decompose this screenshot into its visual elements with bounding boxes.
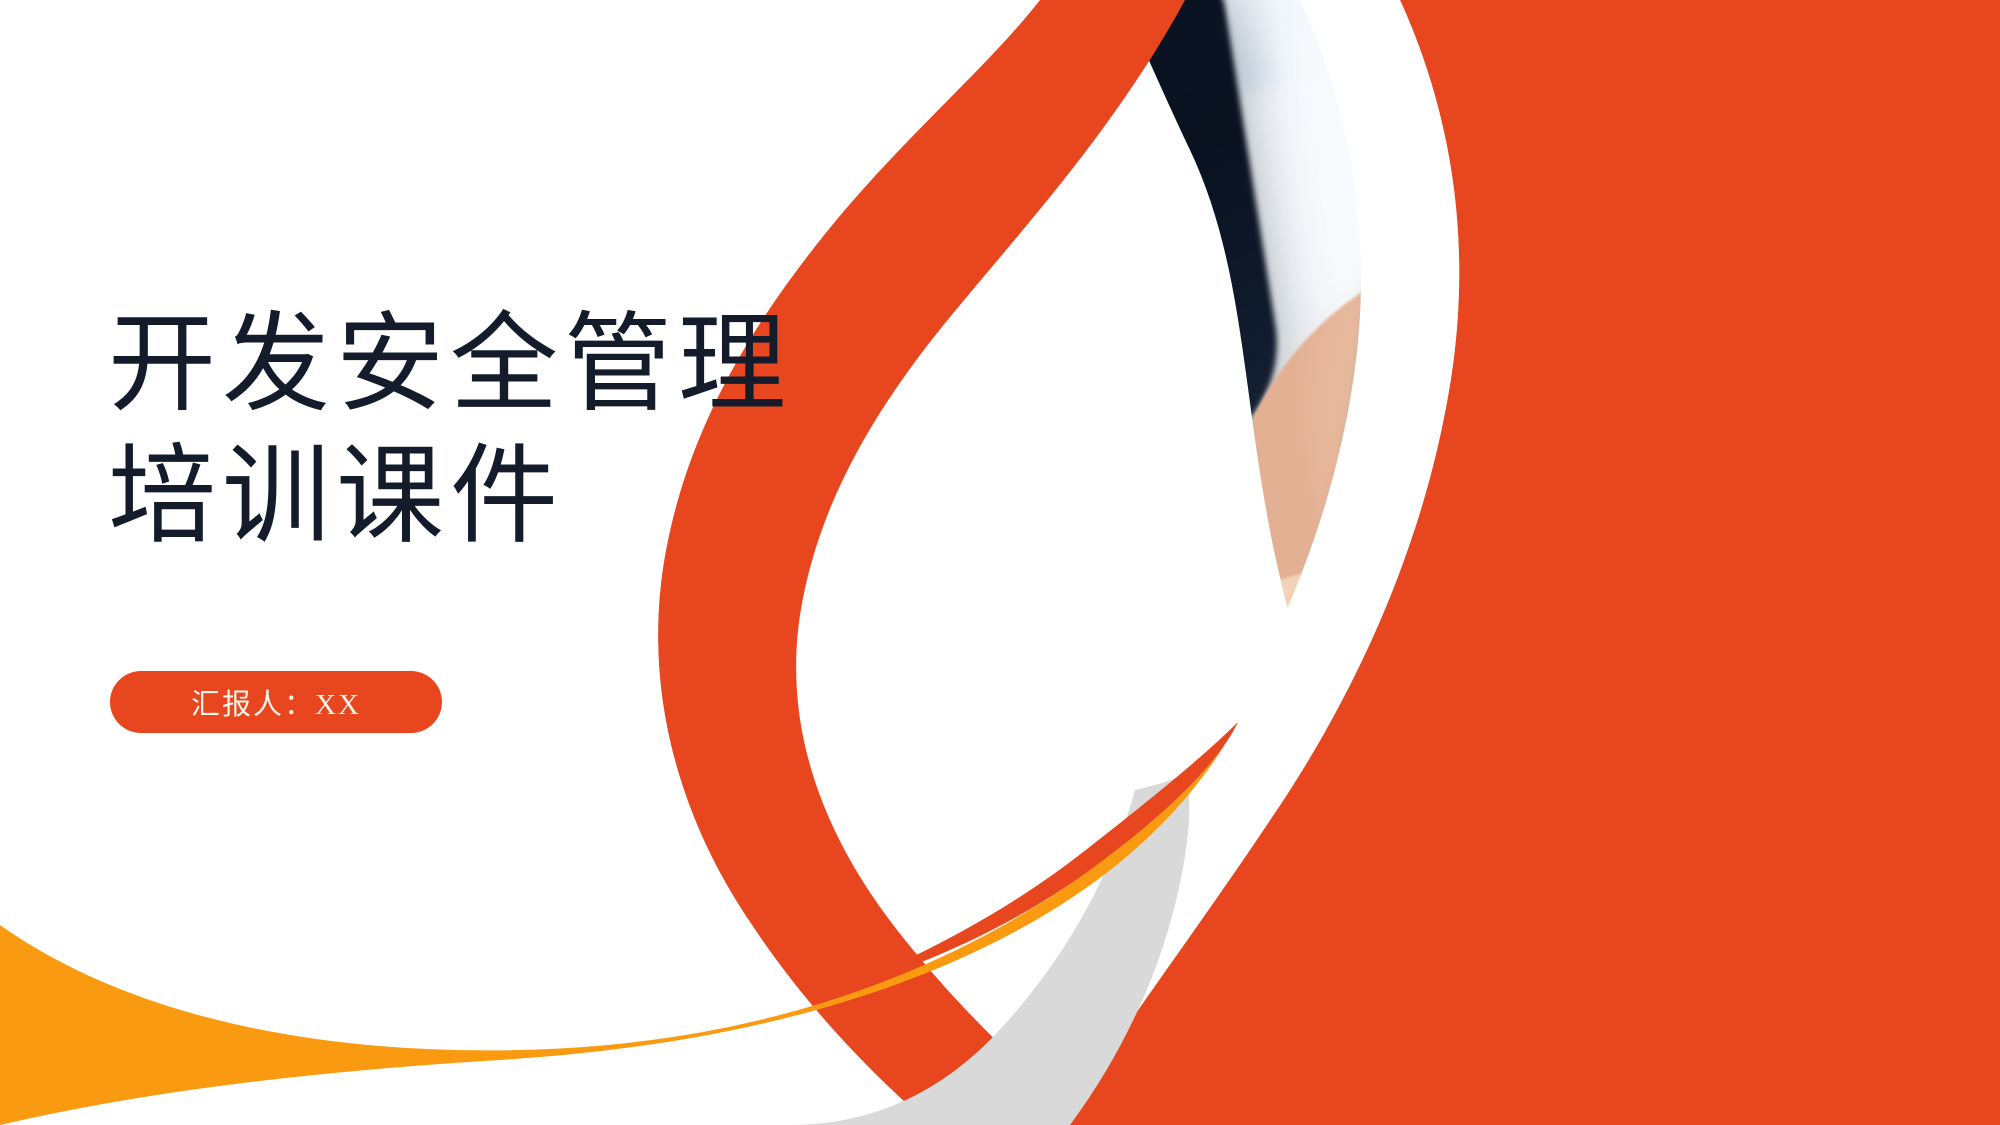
- laptop-screen: [890, 0, 1294, 511]
- presenter-badge-label: 汇报人：XX: [191, 681, 361, 723]
- page-title: 开发安全管理 培训课件: [108, 300, 928, 564]
- hero-photo: [890, 0, 2000, 1125]
- presenter-badge[interactable]: 汇报人：XX: [110, 671, 442, 733]
- title-slide: 开发安全管理 培训课件 汇报人：XX: [0, 0, 2000, 1125]
- title-line-1: 开发安全管理: [108, 300, 928, 432]
- hero-photo-container: [890, 0, 2000, 1125]
- title-line-2: 培训课件: [108, 432, 928, 564]
